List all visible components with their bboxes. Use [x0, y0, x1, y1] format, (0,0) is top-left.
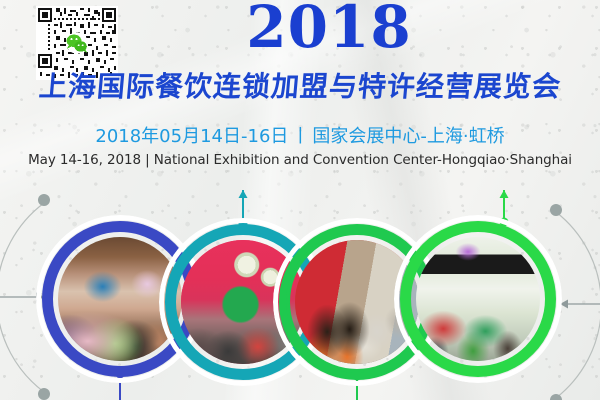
gallery-circle-helisen-grain-booth[interactable] — [394, 215, 562, 383]
event-title-cn: 上海国际餐饮连锁加盟与特许经营展览会 — [0, 72, 600, 103]
event-poster: 2018 上海国际餐饮连锁加盟与特许经营展览会 2018年05月14日-16日丨… — [0, 0, 600, 400]
photo-circle-gallery — [0, 190, 600, 400]
event-venue-cn: 国家会展中心-上海·虹桥 — [312, 126, 504, 147]
event-date-cn: 2018年05月14日-16日 — [95, 126, 288, 147]
event-year: 2018 — [0, 0, 600, 56]
event-date-venue-en: May 14-16, 2018 | National Exhibition an… — [0, 152, 600, 168]
poster-header: 2018 上海国际餐饮连锁加盟与特许经营展览会 2018年05月14日-16日丨… — [0, 0, 600, 190]
date-venue-separator: 丨 — [288, 126, 312, 147]
event-date-venue-cn: 2018年05月14日-16日丨国家会展中心-上海·虹桥 — [0, 126, 600, 148]
